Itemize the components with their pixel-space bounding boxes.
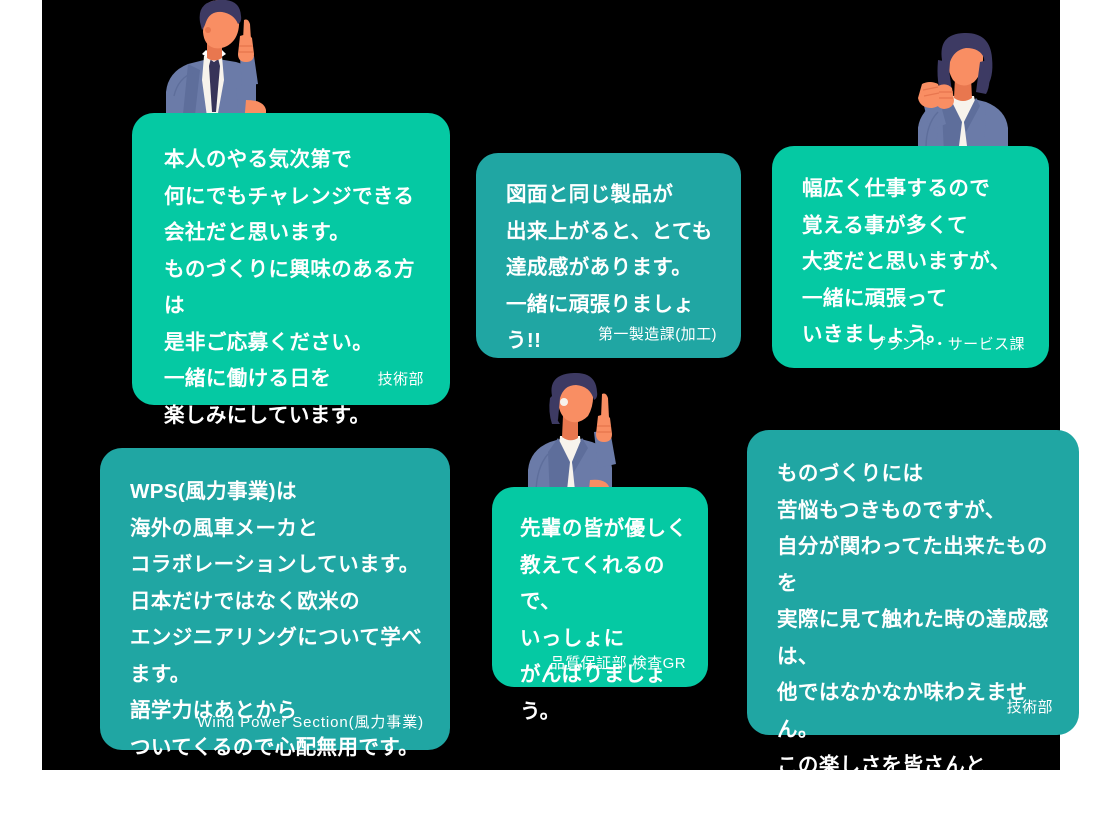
businesswoman-hands-clasped-illustration bbox=[908, 32, 1018, 154]
testimonial-card-5: 先輩の皆が優しく 教えてくれるので、 いっしょに がんばりましょう。 品質保証部… bbox=[492, 487, 708, 687]
testimonial-attribution: 技術部 bbox=[378, 368, 424, 389]
employee-voices-panel: 本人のやる気次第で 何にでもチャレンジできる 会社だと思います。 ものづくりに興… bbox=[0, 0, 1100, 770]
testimonial-card-2: 図面と同じ製品が 出来上がると、とても 達成感があります。 一緒に頑張りましょう… bbox=[476, 153, 741, 358]
testimonial-card-4: WPS(風力事業)は 海外の風車メーカと コラボレーションしています。 日本だけ… bbox=[100, 448, 450, 750]
businessman-pointing-up-illustration bbox=[160, 0, 268, 124]
testimonial-card-1: 本人のやる気次第で 何にでもチャレンジできる 会社だと思います。 ものづくりに興… bbox=[132, 113, 450, 405]
black-canvas: 本人のやる気次第で 何にでもチャレンジできる 会社だと思います。 ものづくりに興… bbox=[42, 0, 1060, 770]
testimonial-body: 先輩の皆が優しく 教えてくれるので、 いっしょに がんばりましょう。 bbox=[520, 511, 688, 730]
businesswoman-pointing-up-illustration bbox=[520, 372, 632, 500]
testimonial-body: 本人のやる気次第で 何にでもチャレンジできる 会社だと思います。 ものづくりに興… bbox=[164, 142, 430, 434]
testimonial-card-3: 幅広く仕事するので 覚える事が多くて 大変だと思いますが、 一緒に頑張って いき… bbox=[772, 146, 1049, 368]
testimonial-attribution: 技術部 bbox=[1007, 696, 1053, 717]
testimonial-attribution: 品質保証部 検査GR bbox=[550, 652, 686, 673]
testimonial-body: ものづくりには 苦悩もつきものですが、 自分が関わってた出来たものを 実際に見て… bbox=[777, 456, 1059, 821]
testimonial-body: 幅広く仕事するので 覚える事が多くて 大変だと思いますが、 一緒に頑張って いき… bbox=[802, 171, 1029, 354]
testimonial-attribution: 第一製造課(加工) bbox=[598, 323, 717, 344]
testimonial-card-6: ものづくりには 苦悩もつきものですが、 自分が関わってた出来たものを 実際に見て… bbox=[747, 430, 1079, 735]
testimonial-attribution: プラント・サービス課 bbox=[870, 333, 1025, 354]
testimonial-attribution: Wind Power Section(風力事業) bbox=[197, 711, 424, 732]
